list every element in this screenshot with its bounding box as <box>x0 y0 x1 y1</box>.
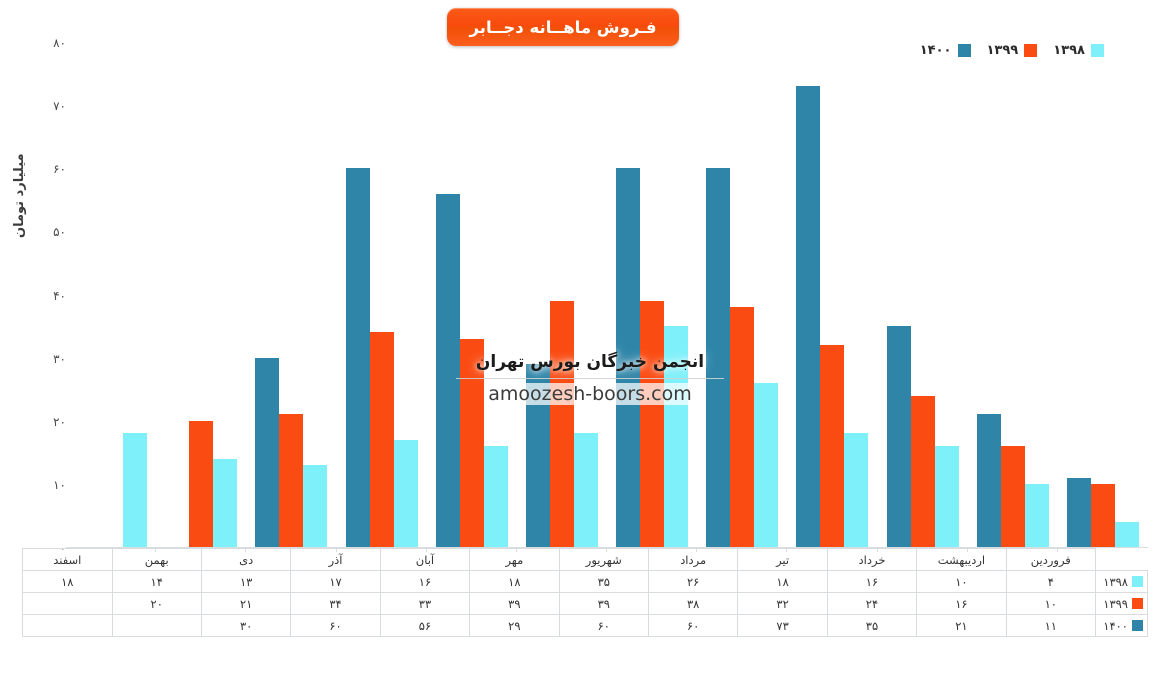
y-tick-label: ۸۰ <box>53 36 66 50</box>
bar-group <box>156 43 246 547</box>
bar[interactable] <box>370 332 394 547</box>
table-cell: ۳۹ <box>470 593 559 615</box>
table-cell: ۱۰ <box>1006 593 1095 615</box>
table-column-header: اردیبهشت <box>917 549 1006 571</box>
table-cell: ۱۶ <box>827 571 916 593</box>
table-cell: ۳۵ <box>559 571 648 593</box>
table-cell <box>23 593 113 615</box>
table-cell: ۱۶ <box>380 571 469 593</box>
table-cell: ۳۴ <box>291 593 380 615</box>
bar[interactable] <box>394 440 418 547</box>
bar-group <box>1058 43 1148 547</box>
bar[interactable] <box>1091 484 1115 547</box>
chart-title-badge: فـروش ماهــانه دجــابر <box>447 8 679 46</box>
table-cell: ۱۷ <box>291 571 380 593</box>
series-name-label: ۱۴۰۰ <box>1103 619 1128 633</box>
bar-group <box>66 43 156 547</box>
bar-group <box>968 43 1058 547</box>
table-cell: ۱۸ <box>470 571 559 593</box>
bar[interactable] <box>123 433 147 547</box>
bar[interactable] <box>820 345 844 547</box>
data-table-body: ۱۳۹۸۴۱۰۱۶۱۸۲۶۳۵۱۸۱۶۱۷۱۳۱۴۱۸۱۳۹۹۱۰۱۶۲۴۳۲۳… <box>23 571 1148 637</box>
y-tick-label: ۵۰ <box>53 225 66 239</box>
table-cell: ۶۰ <box>291 615 380 637</box>
table-cell: ۶۰ <box>559 615 648 637</box>
table-cell: ۲۱ <box>201 593 290 615</box>
table-cell: ۲۴ <box>827 593 916 615</box>
table-cell: ۲۹ <box>470 615 559 637</box>
table-column-header: آذر <box>291 549 380 571</box>
bar-group <box>517 43 607 547</box>
table-cell: ۳۵ <box>827 615 916 637</box>
plot-area <box>66 43 1148 548</box>
table-header-row: فروردیناردیبهشتخردادتیرمردادشهریورمهرآبا… <box>23 549 1148 571</box>
bar[interactable] <box>484 446 508 547</box>
table-cell: ۴ <box>1006 571 1095 593</box>
series-swatch-icon <box>1132 598 1143 609</box>
table-column-header: دی <box>201 549 290 571</box>
bar[interactable] <box>303 465 327 547</box>
bar[interactable] <box>1115 522 1139 547</box>
table-cell: ۶۰ <box>648 615 737 637</box>
y-tick-label: ۷۰ <box>53 99 66 113</box>
bar-group <box>878 43 968 547</box>
bar[interactable] <box>844 433 868 547</box>
table-cell: ۱۰ <box>917 571 1006 593</box>
table-row-header: ۱۳۹۹ <box>1096 593 1148 615</box>
bar[interactable] <box>574 433 598 547</box>
table-column-header: تیر <box>738 549 827 571</box>
table-cell <box>23 615 113 637</box>
table-column-header: مرداد <box>648 549 737 571</box>
bar-group <box>697 43 787 547</box>
table-column-header: خرداد <box>827 549 916 571</box>
table-cell: ۱۸ <box>23 571 113 593</box>
table-column-header: شهریور <box>559 549 648 571</box>
bar[interactable] <box>1067 478 1091 547</box>
bar[interactable] <box>550 301 574 547</box>
y-axis-title: میلیارد تومان <box>12 153 27 238</box>
bar[interactable] <box>1025 484 1049 547</box>
bar[interactable] <box>664 326 688 547</box>
bar[interactable] <box>1001 446 1025 547</box>
table-cell <box>112 615 201 637</box>
series-swatch-icon <box>1132 576 1143 587</box>
table-cell: ۳۳ <box>380 593 469 615</box>
chart-title-text: فـروش ماهــانه دجــابر <box>469 18 656 37</box>
y-tick-label: ۶۰ <box>53 162 66 176</box>
table-corner-cell <box>1096 549 1148 571</box>
table-cell: ۲۱ <box>917 615 1006 637</box>
y-axis: ۰۱۰۲۰۳۰۴۰۵۰۶۰۷۰۸۰ <box>30 43 66 548</box>
table-cell: ۱۱ <box>1006 615 1095 637</box>
table-column-header: بهمن <box>112 549 201 571</box>
table-cell: ۱۳ <box>201 571 290 593</box>
y-tick-label: ۴۰ <box>53 289 66 303</box>
table-column-header: فروردین <box>1006 549 1095 571</box>
series-swatch-icon <box>1132 620 1143 631</box>
bar[interactable] <box>706 168 730 547</box>
bar[interactable] <box>616 168 640 547</box>
table-cell: ۳۸ <box>648 593 737 615</box>
bar[interactable] <box>189 421 213 547</box>
y-tick-label: ۳۰ <box>53 352 66 366</box>
table-row: ۱۴۰۰۱۱۲۱۳۵۷۳۶۰۶۰۲۹۵۶۶۰۳۰ <box>23 615 1148 637</box>
bar[interactable] <box>640 301 664 547</box>
bar[interactable] <box>213 459 237 547</box>
table-column-header: مهر <box>470 549 559 571</box>
bar-group <box>246 43 336 547</box>
table-cell: ۷۳ <box>738 615 827 637</box>
bar[interactable] <box>436 194 460 548</box>
bar[interactable] <box>460 339 484 547</box>
bar-group <box>787 43 877 547</box>
table-row: ۱۳۹۹۱۰۱۶۲۴۳۲۳۸۳۹۳۹۳۳۳۴۲۱۲۰ <box>23 593 1148 615</box>
bar-group <box>427 43 517 547</box>
table-cell: ۳۲ <box>738 593 827 615</box>
bar[interactable] <box>346 168 370 547</box>
bar[interactable] <box>887 326 911 547</box>
table-cell: ۱۸ <box>738 571 827 593</box>
table-row-header: ۱۳۹۸ <box>1096 571 1148 593</box>
table-cell: ۵۶ <box>380 615 469 637</box>
bar-group <box>337 43 427 547</box>
table-cell: ۲۰ <box>112 593 201 615</box>
y-tick-label: ۱۰ <box>53 478 66 492</box>
bar[interactable] <box>255 358 279 547</box>
bar[interactable] <box>754 383 778 547</box>
series-name-label: ۱۳۹۹ <box>1103 597 1128 611</box>
bar[interactable] <box>911 396 935 548</box>
table-cell: ۳۹ <box>559 593 648 615</box>
bar-group <box>607 43 697 547</box>
table-row-header: ۱۴۰۰ <box>1096 615 1148 637</box>
table-cell: ۱۴ <box>112 571 201 593</box>
table-column-header: اسفند <box>23 549 113 571</box>
table-column-header: آبان <box>380 549 469 571</box>
data-table: فروردیناردیبهشتخردادتیرمردادشهریورمهرآبا… <box>22 548 1148 637</box>
bar[interactable] <box>730 307 754 547</box>
bar[interactable] <box>977 414 1001 547</box>
table-cell: ۱۶ <box>917 593 1006 615</box>
chart-page: فـروش ماهــانه دجــابر ۱۳۹۸۱۳۹۹۱۴۰۰ ۰۱۰۲… <box>0 0 1166 673</box>
data-table-head: فروردیناردیبهشتخردادتیرمردادشهریورمهرآبا… <box>23 549 1148 571</box>
table-cell: ۲۶ <box>648 571 737 593</box>
table-row: ۱۳۹۸۴۱۰۱۶۱۸۲۶۳۵۱۸۱۶۱۷۱۳۱۴۱۸ <box>23 571 1148 593</box>
bar[interactable] <box>526 364 550 547</box>
bar[interactable] <box>935 446 959 547</box>
series-name-label: ۱۳۹۸ <box>1103 575 1128 589</box>
bar[interactable] <box>279 414 303 547</box>
table-cell: ۳۰ <box>201 615 290 637</box>
y-tick-label: ۲۰ <box>53 415 66 429</box>
bar[interactable] <box>796 86 820 547</box>
